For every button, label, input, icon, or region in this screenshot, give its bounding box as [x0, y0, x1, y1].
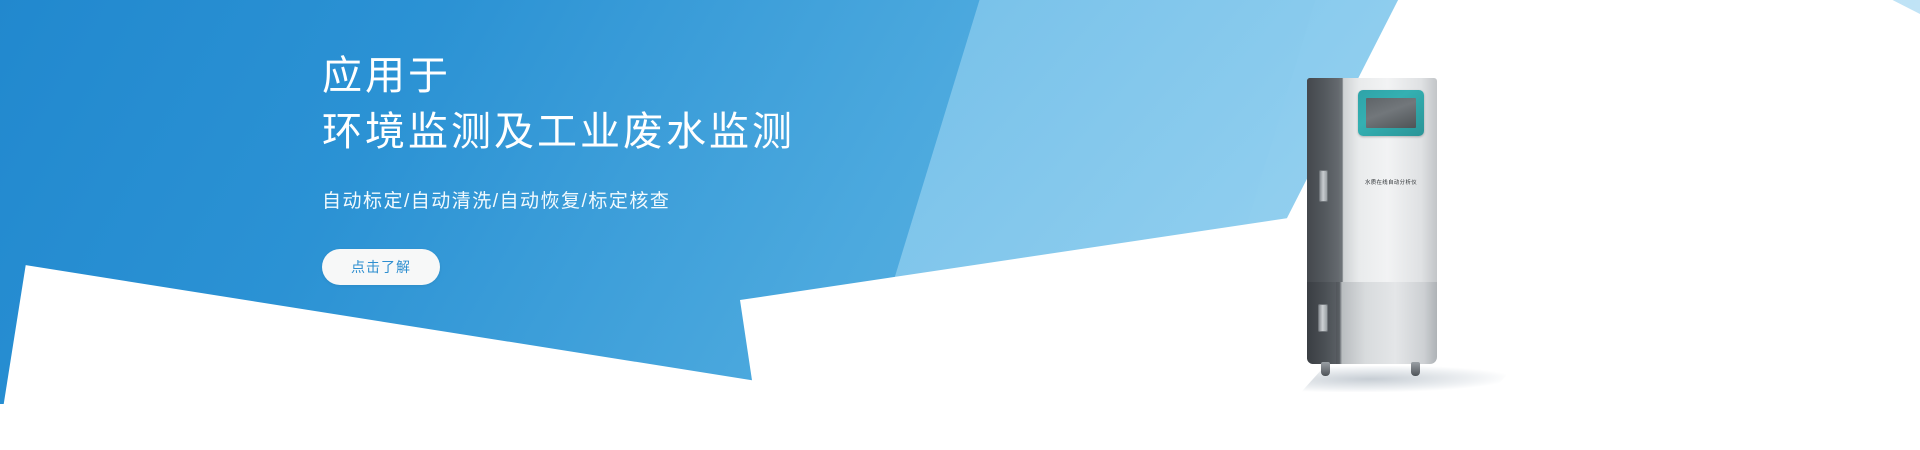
- background-shape-bottom-bar: [0, 404, 1920, 450]
- display-icon: [1358, 90, 1424, 136]
- caster-icon: [1321, 362, 1330, 376]
- headline-line-1: 应用于: [322, 48, 1082, 104]
- device-upper-cabinet: 水质在线自动分析仪: [1307, 78, 1437, 282]
- device-shadow: [1301, 366, 1514, 392]
- hero-banner: 水质在线自动分析仪 应用于 环境监测及工业废水监测 自动标定/自动清洗/自动恢复…: [0, 0, 1920, 450]
- banner-subtitle: 自动标定/自动清洗/自动恢复/标定核查: [322, 186, 1082, 213]
- caster-icon: [1411, 362, 1420, 376]
- banner-content: 应用于 环境监测及工业废水监测 自动标定/自动清洗/自动恢复/标定核查 点击了解: [322, 48, 1082, 285]
- device-screen-glass: [1366, 98, 1416, 128]
- device-panel-label: 水质在线自动分析仪: [1347, 178, 1435, 186]
- page-title: 应用于 环境监测及工业废水监测: [322, 48, 1082, 160]
- learn-more-button[interactable]: 点击了解: [322, 249, 440, 285]
- background-shape-bottom-left: [0, 265, 915, 450]
- headline-line-2: 环境监测及工业废水监测: [322, 104, 1082, 160]
- handle-icon: [1319, 170, 1328, 202]
- handle-icon: [1318, 304, 1328, 332]
- product-image-analyzer: 水质在线自动分析仪: [1307, 78, 1437, 378]
